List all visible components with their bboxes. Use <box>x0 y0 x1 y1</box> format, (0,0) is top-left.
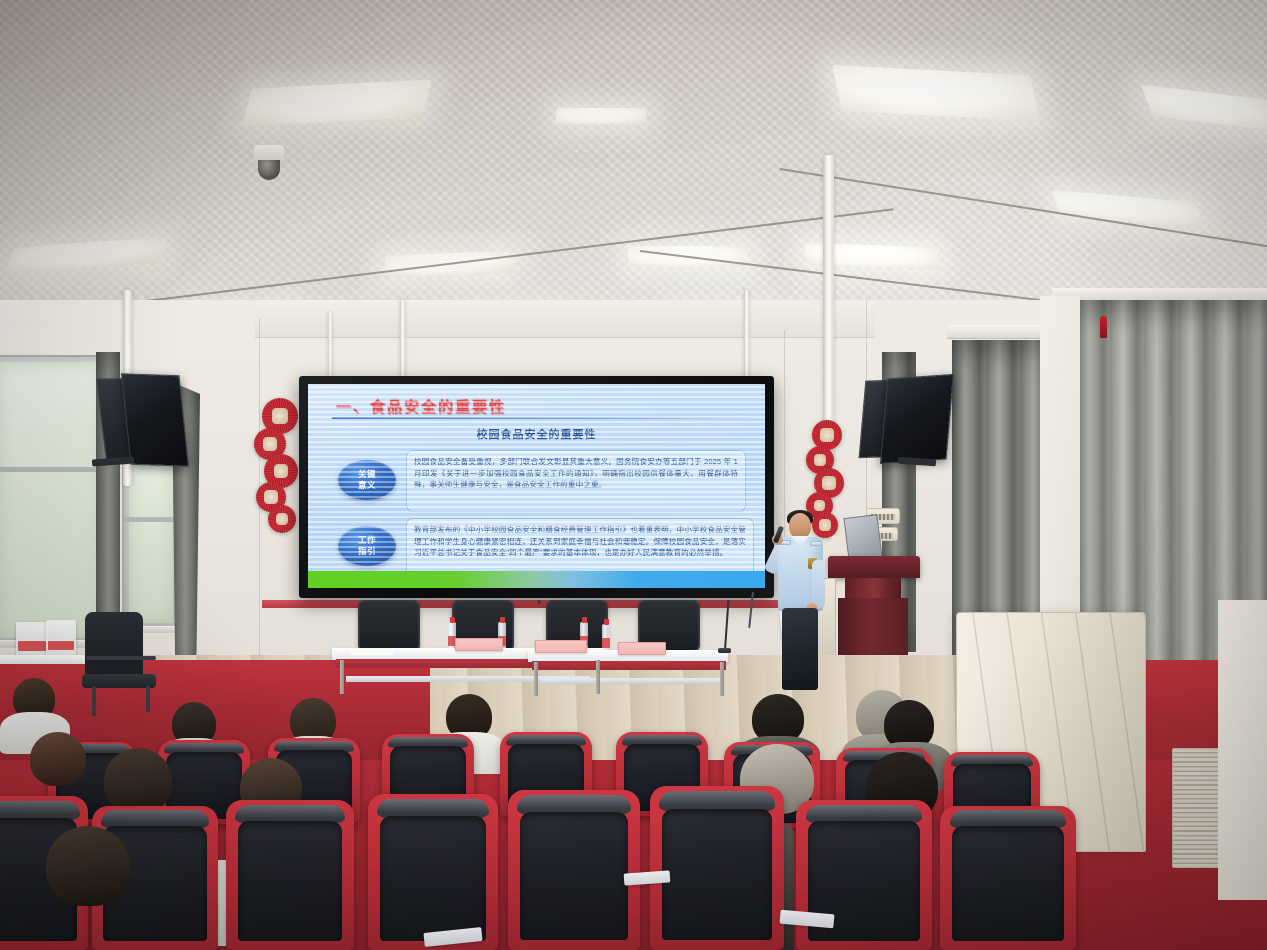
seat-backrest <box>380 816 487 941</box>
slide-title-divider <box>332 417 752 419</box>
butterfly-decoration <box>284 543 295 551</box>
head-table-shelf <box>540 678 720 684</box>
name-placard <box>618 642 666 655</box>
window-left-1 <box>0 355 110 645</box>
wall-header-band <box>255 300 875 338</box>
bottled-water-pack <box>46 620 76 658</box>
speaker-pole-right <box>823 155 834 465</box>
chair-armrest <box>86 656 156 660</box>
table-leg <box>596 660 600 694</box>
slide-badge-key-significance: 关键 意义 <box>338 460 396 500</box>
slide-textbox-key-significance: 校园食品安全备受重视，多部门联合发文彰显其重大意义。国务院食安办等五部门于 20… <box>406 450 746 512</box>
chair-leg <box>146 686 150 712</box>
paper-fan-decoration <box>268 505 296 533</box>
window-glass <box>0 362 103 638</box>
window-mullion <box>0 467 108 472</box>
screen-indicator-led <box>537 600 541 604</box>
seat-backrest <box>662 809 772 940</box>
side-table-skirt <box>0 664 88 671</box>
table-leg <box>534 662 538 696</box>
office-chair-back[interactable] <box>85 612 143 680</box>
table-leg <box>340 660 344 694</box>
slide-badge-work-guidelines: 工作 指引 <box>338 526 396 566</box>
butterfly-decoration <box>832 534 843 542</box>
butterfly-decoration <box>266 536 277 544</box>
podium-top <box>828 556 920 578</box>
window-mullion <box>124 517 178 522</box>
audience-seat[interactable] <box>940 806 1076 950</box>
head-table-chair[interactable] <box>358 600 420 652</box>
presenter-head <box>789 513 811 539</box>
table-leg <box>720 662 724 696</box>
side-table <box>0 655 90 664</box>
seat-backrest <box>952 826 1064 941</box>
badge-line-2: 指引 <box>358 546 376 557</box>
ac-pillar <box>1218 600 1267 900</box>
led-display-screen[interactable]: 一、食品安全的重要性 校园食品安全的重要性 关键 意义 校园食品安全备受重视，多… <box>299 376 774 598</box>
audience-seat[interactable] <box>796 800 932 950</box>
badge-line-1: 关键 <box>358 469 376 480</box>
wall-skirting <box>262 600 782 608</box>
chair-leg <box>92 686 96 716</box>
audience-head <box>30 732 86 786</box>
podium-monitor <box>843 514 882 562</box>
head-table-skirt <box>532 661 726 670</box>
name-placard <box>535 640 587 653</box>
badge-line-1: 工作 <box>358 535 376 546</box>
speaker-left <box>121 373 189 467</box>
seat-backrest <box>238 821 343 941</box>
table-papers <box>350 648 394 655</box>
audience-seat[interactable] <box>650 786 784 950</box>
podium-column <box>845 578 901 600</box>
presenter-arm-right <box>812 560 825 608</box>
ac-grille-icon <box>1172 748 1220 868</box>
audience-seat[interactable] <box>226 800 354 950</box>
fire-extinguisher-icon <box>1100 316 1107 338</box>
name-placard <box>455 638 503 651</box>
bottled-water-pack <box>16 622 48 658</box>
presentation-slide: 一、食品安全的重要性 校园食品安全的重要性 关键 意义 校园食品安全备受重视，多… <box>308 384 765 588</box>
audience-head <box>104 748 172 814</box>
audience-seat[interactable] <box>508 790 640 950</box>
presenter-epaulet <box>810 541 822 546</box>
conference-room-photo: 一、食品安全的重要性 校园食品安全的重要性 关键 意义 校园食品安全备受重视，多… <box>0 0 1267 950</box>
audience-head <box>46 826 130 906</box>
seat-backrest <box>520 812 628 940</box>
slide-footer-bar <box>308 571 765 588</box>
microphone-base <box>718 648 731 653</box>
presenter-trousers <box>782 608 818 684</box>
slide-subtitle: 校园食品安全的重要性 <box>308 426 765 442</box>
slide-heading: 一、食品安全的重要性 <box>336 396 506 417</box>
security-camera-icon <box>254 145 284 165</box>
presenter-shoes <box>782 680 818 690</box>
speaker-right <box>880 374 954 464</box>
badge-line-2: 意义 <box>358 480 376 491</box>
